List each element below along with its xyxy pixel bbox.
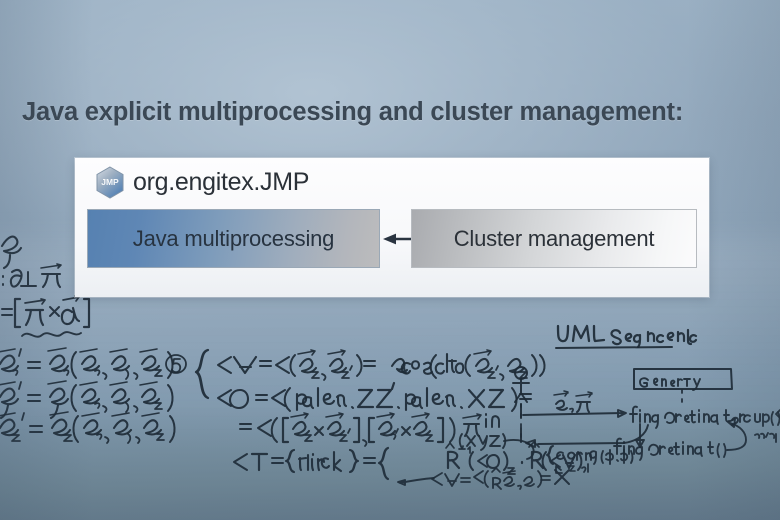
node-cluster-management[interactable]: Cluster management bbox=[411, 209, 697, 268]
node-cluster-management-label: Cluster management bbox=[454, 226, 655, 252]
node-java-multiprocessing-label: Java multiprocessing bbox=[133, 226, 334, 252]
page-title: Java explicit multiprocessing and cluste… bbox=[22, 98, 683, 127]
panel-header: JMP org.engitex.JMP bbox=[95, 166, 309, 199]
screenshot-root: Java explicit multiprocessing and cluste… bbox=[0, 0, 780, 520]
svg-text:JMP: JMP bbox=[101, 177, 119, 187]
jmp-panel: JMP org.engitex.JMP Java multiprocessing… bbox=[75, 158, 709, 297]
package-name-label: org.engitex.JMP bbox=[133, 168, 309, 197]
architecture-diagram: Java multiprocessing Cluster management bbox=[87, 209, 697, 271]
node-java-multiprocessing[interactable]: Java multiprocessing bbox=[87, 209, 380, 268]
jmp-hexagon-logo-icon: JMP bbox=[95, 166, 125, 199]
